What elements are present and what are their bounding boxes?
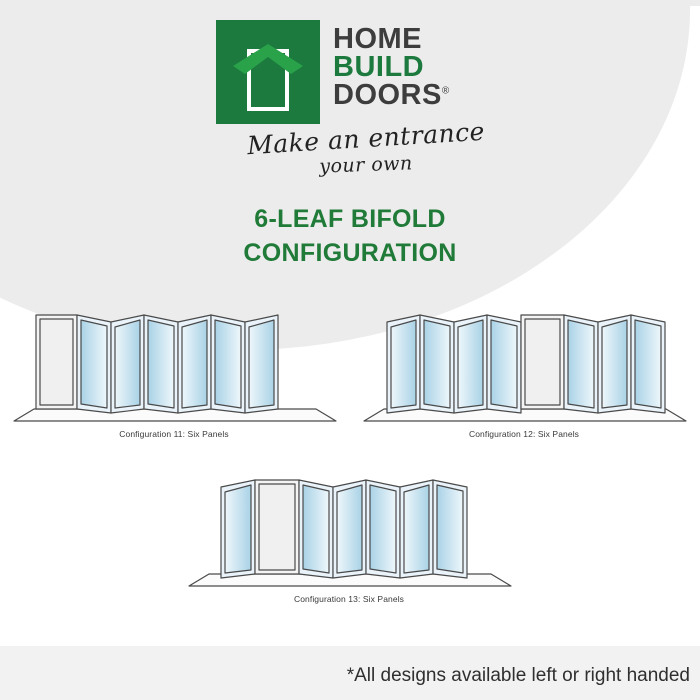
page-title-line-1: 6-LEAF BIFOLD <box>0 203 700 237</box>
logo-wordmark: HOME BUILD DOORS® <box>333 20 450 109</box>
roof-arrow-shape <box>233 44 303 78</box>
logo-row: HOME BUILD DOORS® <box>216 20 484 124</box>
logo-line-home: HOME <box>333 26 450 54</box>
brand-tagline: Make an entrance your own <box>246 124 486 176</box>
logo-line-build: BUILD <box>333 54 450 82</box>
poster-root: HOME BUILD DOORS® Make an entrance your … <box>0 0 700 700</box>
diagram-configuration-13: Configuration 13: Six Panels <box>181 468 517 604</box>
registered-trademark-icon: ® <box>442 85 450 96</box>
brand-logo: HOME BUILD DOORS® Make an entrance your … <box>216 20 484 190</box>
diagram-caption-13: Configuration 13: Six Panels <box>181 594 517 604</box>
page-title: 6-LEAF BIFOLD CONFIGURATION <box>0 203 700 271</box>
diagram-configuration-11: Configuration 11: Six Panels <box>6 303 342 439</box>
page-title-line-2: CONFIGURATION <box>0 237 700 271</box>
logo-line-doors: DOORS® <box>333 82 450 110</box>
bifold-door-illustration-11 <box>6 303 342 428</box>
diagram-configuration-12: Configuration 12: Six Panels <box>356 303 692 439</box>
diagram-caption-11: Configuration 11: Six Panels <box>6 429 342 439</box>
bifold-door-illustration-13 <box>181 468 517 593</box>
bifold-door-illustration-12 <box>356 303 692 428</box>
footer-note: *All designs available left or right han… <box>347 665 690 687</box>
house-door-icon <box>216 20 320 124</box>
logo-doors-text: DOORS <box>333 79 442 111</box>
diagram-caption-12: Configuration 12: Six Panels <box>356 429 692 439</box>
